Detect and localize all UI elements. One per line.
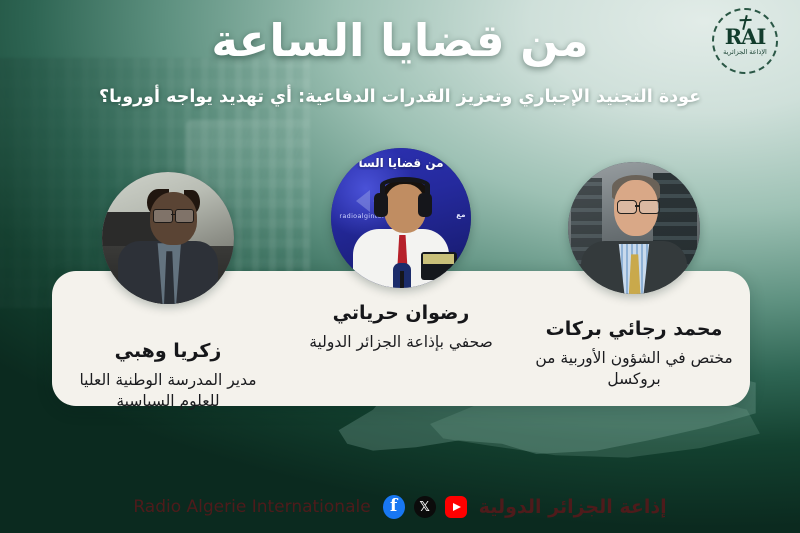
studio-program-text: من قضايا السا xyxy=(331,156,471,170)
footer-bar: إذاعة الجزائر الدولية f 𝕏 Radio Algerie … xyxy=(0,481,800,533)
guest-avatar-photo xyxy=(102,172,234,304)
social-links: f 𝕏 xyxy=(383,495,467,519)
footer-arabic-label: إذاعة الجزائر الدولية xyxy=(479,496,667,518)
guest-avatar-photo xyxy=(568,162,700,294)
youtube-icon[interactable] xyxy=(445,496,467,518)
x-twitter-icon[interactable]: 𝕏 xyxy=(414,496,436,518)
page-subtitle: عودة التجنيد الإجباري وتعزيز القدرات الد… xyxy=(0,87,800,107)
guest-card-zakaria-wahbi: زكريا وهبي مدير المدرسة الوطنية العليا ل… xyxy=(52,172,284,413)
guest-name: رضوان حرياتي xyxy=(333,302,470,325)
guest-role: صحفي بإذاعة الجزائر الدولية xyxy=(309,332,493,353)
guest-card-mohamed-radjai-barakat: محمد رجائي بركات مختص في الشؤون الأوربية… xyxy=(518,162,750,391)
guest-role: مختص في الشؤون الأوربية من بروكسل xyxy=(527,348,742,391)
page-title: من قضايا الساعة xyxy=(0,14,800,67)
program-poster: RAI الإذاعة الجزائرية من قضايا الساعة عو… xyxy=(0,0,800,533)
guest-card-redouane-heriati: من قضايا السا مع radioalginter رضوان حري… xyxy=(285,148,517,353)
facebook-icon[interactable]: f xyxy=(383,495,405,519)
guest-name: محمد رجائي بركات xyxy=(546,318,723,341)
guest-role: مدير المدرسة الوطنية العليا للعلوم السيا… xyxy=(61,370,276,413)
studio-with-text: مع xyxy=(456,211,465,219)
footer-english-label: Radio Algerie Internationale xyxy=(133,497,370,517)
guests-list: محمد رجائي بركات مختص في الشؤون الأوربية… xyxy=(52,150,750,406)
guest-name: زكريا وهبي xyxy=(115,340,222,363)
guest-avatar-photo: من قضايا السا مع radioalginter xyxy=(331,148,471,288)
